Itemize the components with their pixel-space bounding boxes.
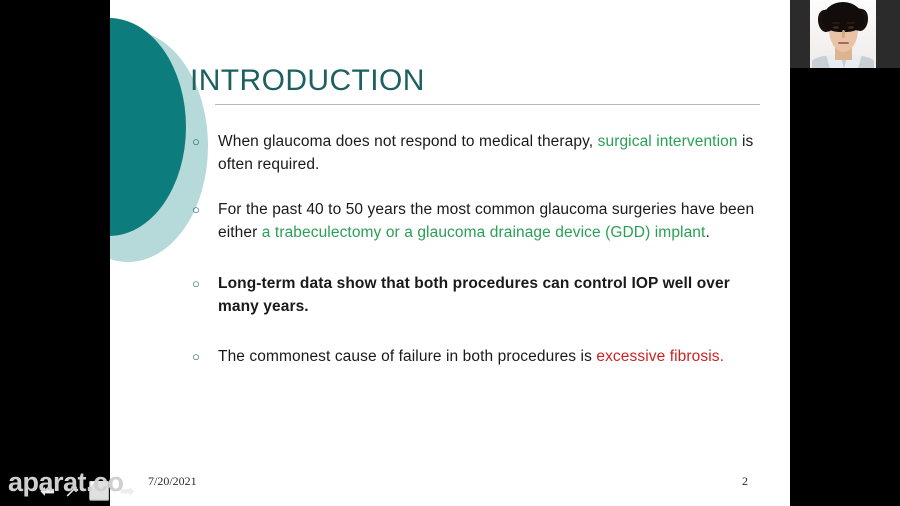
bullet-4-seg-1: The commonest cause of failure in both p… bbox=[218, 348, 596, 365]
bullet-marker-icon: ○ bbox=[192, 198, 204, 221]
webcam-nose bbox=[842, 30, 845, 38]
bullet-marker-icon: ○ bbox=[192, 130, 204, 153]
slide-title: INTRODUCTION bbox=[190, 64, 425, 98]
bullet-marker-icon: ○ bbox=[192, 272, 204, 295]
aparat-watermark: aparat.co bbox=[8, 467, 124, 498]
bullet-3-seg-1: Long-term data show that both procedures… bbox=[218, 275, 730, 315]
slide-footer-page-number: 2 bbox=[742, 474, 748, 489]
bullet-4-seg-2: excessive fibrosis. bbox=[596, 348, 724, 365]
bullet-marker-icon: ○ bbox=[192, 345, 204, 368]
presentation-slide: INTRODUCTION ○ When glaucoma does not re… bbox=[110, 0, 790, 506]
webcam-eyebrow-right bbox=[847, 22, 855, 24]
slide-footer-date: 7/20/2021 bbox=[148, 474, 197, 489]
bullet-item-3: ○ Long-term data show that both procedur… bbox=[190, 272, 758, 318]
bullet-item-2: ○ For the past 40 to 50 years the most c… bbox=[190, 198, 758, 244]
bullet-2-seg-3: . bbox=[705, 224, 709, 241]
webcam-eye-right bbox=[848, 26, 854, 29]
bullet-2-seg-2: a trabeculectomy or a glaucoma drainage … bbox=[262, 224, 706, 241]
webcam-hair bbox=[822, 2, 864, 32]
slide-body-list: ○ When glaucoma does not respond to medi… bbox=[190, 130, 758, 368]
bullet-item-4: ○ The commonest cause of failure in both… bbox=[190, 345, 758, 368]
webcam-eyebrow-left bbox=[832, 22, 840, 24]
bullet-1-seg-1: When glaucoma does not respond to medica… bbox=[218, 133, 598, 150]
webcam-mouth bbox=[838, 42, 849, 44]
bullet-item-1: ○ When glaucoma does not respond to medi… bbox=[190, 130, 758, 176]
bullet-1-seg-2: surgical intervention bbox=[598, 133, 738, 150]
presenter-webcam-thumbnail[interactable] bbox=[810, 0, 876, 68]
title-divider bbox=[215, 104, 760, 105]
video-player-stage: INTRODUCTION ○ When glaucoma does not re… bbox=[0, 0, 900, 506]
webcam-eye-left bbox=[833, 26, 839, 29]
